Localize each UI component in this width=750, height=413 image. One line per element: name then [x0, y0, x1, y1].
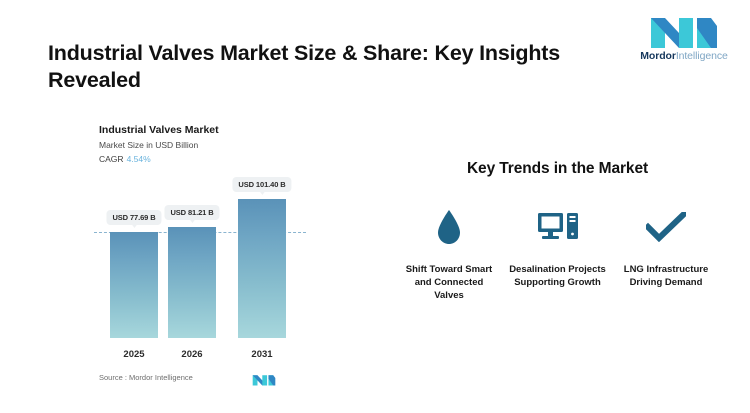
brand-logo: MordorIntelligence — [636, 10, 732, 72]
brand-name-first: Mordor — [640, 50, 676, 62]
bar-chart-plot: USD 77.69 B2025USD 81.21 B2026USD 101.40… — [0, 110, 360, 390]
trend-item: LNG Infrastructure Driving Demand — [616, 206, 716, 302]
bar-2025[interactable] — [110, 232, 158, 338]
mordor-m-monogram-icon — [649, 10, 719, 48]
trend-label: LNG Infrastructure Driving Demand — [616, 264, 716, 290]
water-drop-icon — [399, 206, 499, 248]
bar-value-label: USD 77.69 B — [106, 210, 161, 225]
brand-name: MordorIntelligence — [636, 50, 732, 62]
x-axis-label: 2025 — [123, 349, 144, 360]
trend-item: Shift Toward Smart and Connected Valves — [399, 206, 499, 302]
x-axis-label: 2031 — [251, 349, 272, 360]
desktop-computer-icon — [508, 206, 608, 248]
bar-2026[interactable] — [168, 227, 216, 338]
trend-label: Desalination Projects Supporting Growth — [508, 264, 608, 290]
trend-list: Shift Toward Smart and Connected Valves … — [385, 206, 730, 302]
x-axis-label: 2026 — [181, 349, 202, 360]
page-title: Industrial Valves Market Size & Share: K… — [48, 40, 648, 94]
mordor-m-monogram-icon — [252, 372, 276, 386]
trend-item: Desalination Projects Supporting Growth — [508, 206, 608, 302]
chart-source: Source : Mordor Intelligence — [99, 373, 193, 382]
key-trends-panel: Key Trends in the Market Shift Toward Sm… — [385, 160, 730, 302]
bar-value-label: USD 101.40 B — [232, 177, 291, 192]
checkmark-icon — [616, 206, 716, 248]
chart-panel: Industrial Valves Market Market Size in … — [0, 110, 360, 390]
trend-label: Shift Toward Smart and Connected Valves — [399, 264, 499, 302]
brand-name-second: Intelligence — [676, 50, 728, 62]
bar-2031[interactable] — [238, 199, 286, 338]
bar-value-label: USD 81.21 B — [164, 205, 219, 220]
key-trends-title: Key Trends in the Market — [385, 160, 730, 178]
